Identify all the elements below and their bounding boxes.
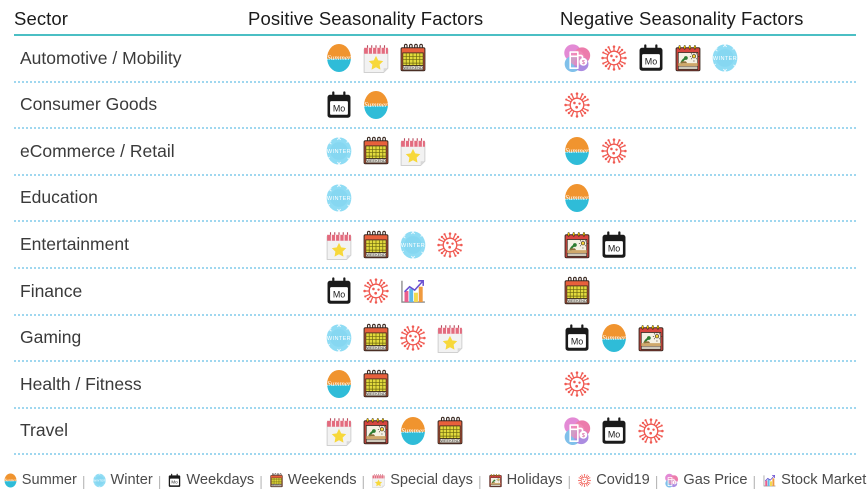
table-row: Gaming WINTER WEEKEND <box>14 316 856 363</box>
svg-text:$: $ <box>582 60 585 66</box>
weekends-icon: WEEKEND <box>268 472 285 489</box>
special-days-icon <box>359 41 393 75</box>
positive-factors-cell: WINTER WEEKEND <box>236 134 546 168</box>
stock-market-icon <box>396 274 430 308</box>
weekdays-icon: Mo <box>560 321 594 355</box>
legend-separator: | <box>153 473 167 489</box>
summer-icon: Summer <box>560 134 594 168</box>
svg-text:Summer: Summer <box>4 479 16 483</box>
positive-factors-cell: Mo <box>236 274 546 308</box>
weekdays-icon: Mo <box>322 88 356 122</box>
legend-label: Covid19 <box>596 473 650 488</box>
special-days-icon <box>322 414 356 448</box>
winter-icon: WINTER <box>322 181 356 215</box>
svg-text:Mo: Mo <box>608 243 620 253</box>
svg-text:WEEKEND: WEEKEND <box>366 345 385 350</box>
legend-separator: | <box>357 473 371 489</box>
summer-icon: Summer <box>322 367 356 401</box>
seasonality-factors-table: Sector Positive Seasonality Factors Nega… <box>0 0 868 503</box>
sector-label: Automotive / Mobility <box>14 50 236 68</box>
legend-item-weekdays: Mo Weekdays <box>166 472 254 489</box>
covid19-icon <box>597 41 631 75</box>
legend-label: Winter <box>111 473 153 488</box>
negative-factors-cell: $ Mo <box>546 414 856 448</box>
positive-factors-cell: Mo Summer <box>236 88 546 122</box>
legend-label: Special days <box>390 473 473 488</box>
legend-item-covid19: Covid19 <box>576 472 650 489</box>
sector-label: Consumer Goods <box>14 96 236 114</box>
special-days-icon <box>370 472 387 489</box>
weekdays-icon: Mo <box>634 41 668 75</box>
svg-text:WEEKEND: WEEKEND <box>403 66 422 71</box>
legend-label: Gas Price <box>683 473 747 488</box>
sector-label: Gaming <box>14 329 236 347</box>
weekdays-icon: Mo <box>597 414 631 448</box>
legend-item-weekends: WEEKEND Weekends <box>268 472 357 489</box>
holidays-icon <box>560 228 594 262</box>
negative-factors-cell <box>546 88 856 122</box>
svg-text:Mo: Mo <box>608 429 620 439</box>
header-sector: Sector <box>14 10 248 29</box>
winter-icon: WINTER <box>91 472 108 489</box>
legend-label: Summer <box>22 473 77 488</box>
weekdays-icon: Mo <box>322 274 356 308</box>
svg-text:Mo: Mo <box>645 57 657 67</box>
weekends-icon: WEEKEND <box>359 228 393 262</box>
weekends-icon: WEEKEND <box>396 41 430 75</box>
negative-factors-cell: Mo <box>546 228 856 262</box>
positive-factors-cell: WINTER WEEKEND <box>236 321 546 355</box>
table-body: Automotive / Mobility Summer <box>0 36 868 455</box>
weekends-icon: WEEKEND <box>560 274 594 308</box>
svg-text:WEEKEND: WEEKEND <box>366 392 385 397</box>
svg-text:WINTER: WINTER <box>327 196 351 202</box>
covid19-icon <box>576 472 593 489</box>
legend-label: Holidays <box>507 473 563 488</box>
svg-text:Summer: Summer <box>565 194 589 202</box>
covid19-icon <box>396 321 430 355</box>
gas-price-icon: $ <box>560 414 594 448</box>
table-row: Consumer Goods Mo Summer <box>14 83 856 130</box>
weekends-icon: WEEKEND <box>359 367 393 401</box>
svg-text:Mo: Mo <box>172 480 179 485</box>
negative-factors-cell <box>546 367 856 401</box>
special-days-icon <box>396 134 430 168</box>
positive-factors-cell: WEEKEND WINTER <box>236 228 546 262</box>
svg-text:WINTER: WINTER <box>713 56 737 62</box>
table-header: Sector Positive Seasonality Factors Nega… <box>0 0 868 28</box>
svg-text:Summer: Summer <box>401 427 425 435</box>
legend-separator: | <box>254 473 268 489</box>
summer-icon: Summer <box>2 472 19 489</box>
legend-separator: | <box>747 473 761 489</box>
legend-item-gas-price: $ Gas Price <box>663 472 747 489</box>
svg-text:Mo: Mo <box>571 336 583 346</box>
holidays-icon <box>359 414 393 448</box>
svg-text:Summer: Summer <box>327 54 351 62</box>
legend: Summer Summer| WINTER Winter| Mo Weekday… <box>0 472 868 489</box>
table-row: eCommerce / Retail WINTER <box>14 129 856 176</box>
covid19-icon <box>359 274 393 308</box>
legend-item-winter: WINTER Winter <box>91 472 153 489</box>
legend-separator: | <box>77 473 91 489</box>
svg-text:WEEKEND: WEEKEND <box>366 252 385 257</box>
header-negative: Negative Seasonality Factors <box>560 10 868 29</box>
svg-text:Mo: Mo <box>333 103 345 113</box>
legend-item-stock-market: Stock Market <box>761 472 866 489</box>
winter-icon: WINTER <box>708 41 742 75</box>
sector-label: Travel <box>14 422 236 440</box>
svg-text:WEEKEND: WEEKEND <box>440 438 459 443</box>
table-row: Travel <box>14 409 856 456</box>
winter-icon: WINTER <box>322 134 356 168</box>
table-row: Finance Mo <box>14 269 856 316</box>
weekdays-icon: Mo <box>166 472 183 489</box>
weekends-icon: WEEKEND <box>359 321 393 355</box>
sector-label: Entertainment <box>14 236 236 254</box>
covid19-icon <box>433 228 467 262</box>
positive-factors-cell: Summer WEEKEND <box>236 41 546 75</box>
summer-icon: Summer <box>396 414 430 448</box>
legend-label: Weekdays <box>186 473 254 488</box>
negative-factors-cell: $ <box>546 41 856 75</box>
holidays-icon <box>634 321 668 355</box>
legend-separator: | <box>563 473 577 489</box>
svg-text:WINTER: WINTER <box>93 479 105 483</box>
table-row: Health / Fitness Summer WEEKEND <box>14 362 856 409</box>
holidays-icon <box>671 41 705 75</box>
svg-text:$: $ <box>582 433 585 439</box>
holidays-icon <box>487 472 504 489</box>
svg-text:WINTER: WINTER <box>327 336 351 342</box>
winter-icon: WINTER <box>322 321 356 355</box>
legend-label: Weekends <box>288 473 357 488</box>
svg-text:Summer: Summer <box>565 148 589 156</box>
legend-item-holidays: Holidays <box>487 472 563 489</box>
negative-factors-cell: Summer <box>546 181 856 215</box>
positive-factors-cell: Summer WEEKEND <box>236 414 546 448</box>
table-row: Automotive / Mobility Summer <box>14 36 856 83</box>
svg-text:Summer: Summer <box>327 381 351 389</box>
svg-text:WINTER: WINTER <box>327 150 351 156</box>
covid19-icon <box>560 88 594 122</box>
svg-text:WINTER: WINTER <box>401 243 425 249</box>
special-days-icon <box>433 321 467 355</box>
svg-text:Mo: Mo <box>333 290 345 300</box>
covid19-icon <box>597 134 631 168</box>
sector-label: Health / Fitness <box>14 376 236 394</box>
summer-icon: Summer <box>322 41 356 75</box>
covid19-icon <box>634 414 668 448</box>
negative-factors-cell: WEEKEND <box>546 274 856 308</box>
winter-icon: WINTER <box>396 228 430 262</box>
legend-separator: | <box>650 473 664 489</box>
positive-factors-cell: WINTER <box>236 181 546 215</box>
summer-icon: Summer <box>597 321 631 355</box>
weekends-icon: WEEKEND <box>359 134 393 168</box>
legend-item-special-days: Special days <box>370 472 473 489</box>
weekends-icon: WEEKEND <box>433 414 467 448</box>
gas-price-icon: $ <box>663 472 680 489</box>
svg-text:WEEKEND: WEEKEND <box>272 485 282 487</box>
table-row: Education WINTER Summer <box>14 176 856 223</box>
sector-label: eCommerce / Retail <box>14 143 236 161</box>
negative-factors-cell: Mo Summer <box>546 321 856 355</box>
summer-icon: Summer <box>560 181 594 215</box>
legend-separator: | <box>473 473 487 489</box>
positive-factors-cell: Summer WEEKEND <box>236 367 546 401</box>
svg-text:Summer: Summer <box>602 334 626 342</box>
svg-text:Summer: Summer <box>364 101 388 109</box>
legend-label: Stock Market <box>781 473 866 488</box>
special-days-icon <box>322 228 356 262</box>
stock-market-icon <box>761 472 778 489</box>
svg-text:WEEKEND: WEEKEND <box>366 159 385 164</box>
sector-label: Education <box>14 189 236 207</box>
summer-icon: Summer <box>359 88 393 122</box>
covid19-icon <box>560 367 594 401</box>
svg-text:WEEKEND: WEEKEND <box>567 298 586 303</box>
legend-item-summer: Summer Summer <box>2 472 77 489</box>
negative-factors-cell: Summer <box>546 134 856 168</box>
header-positive: Positive Seasonality Factors <box>248 10 560 29</box>
table-row: Entertainment WEEKEND <box>14 222 856 269</box>
gas-price-icon: $ <box>560 41 594 75</box>
weekdays-icon: Mo <box>597 228 631 262</box>
sector-label: Finance <box>14 283 236 301</box>
